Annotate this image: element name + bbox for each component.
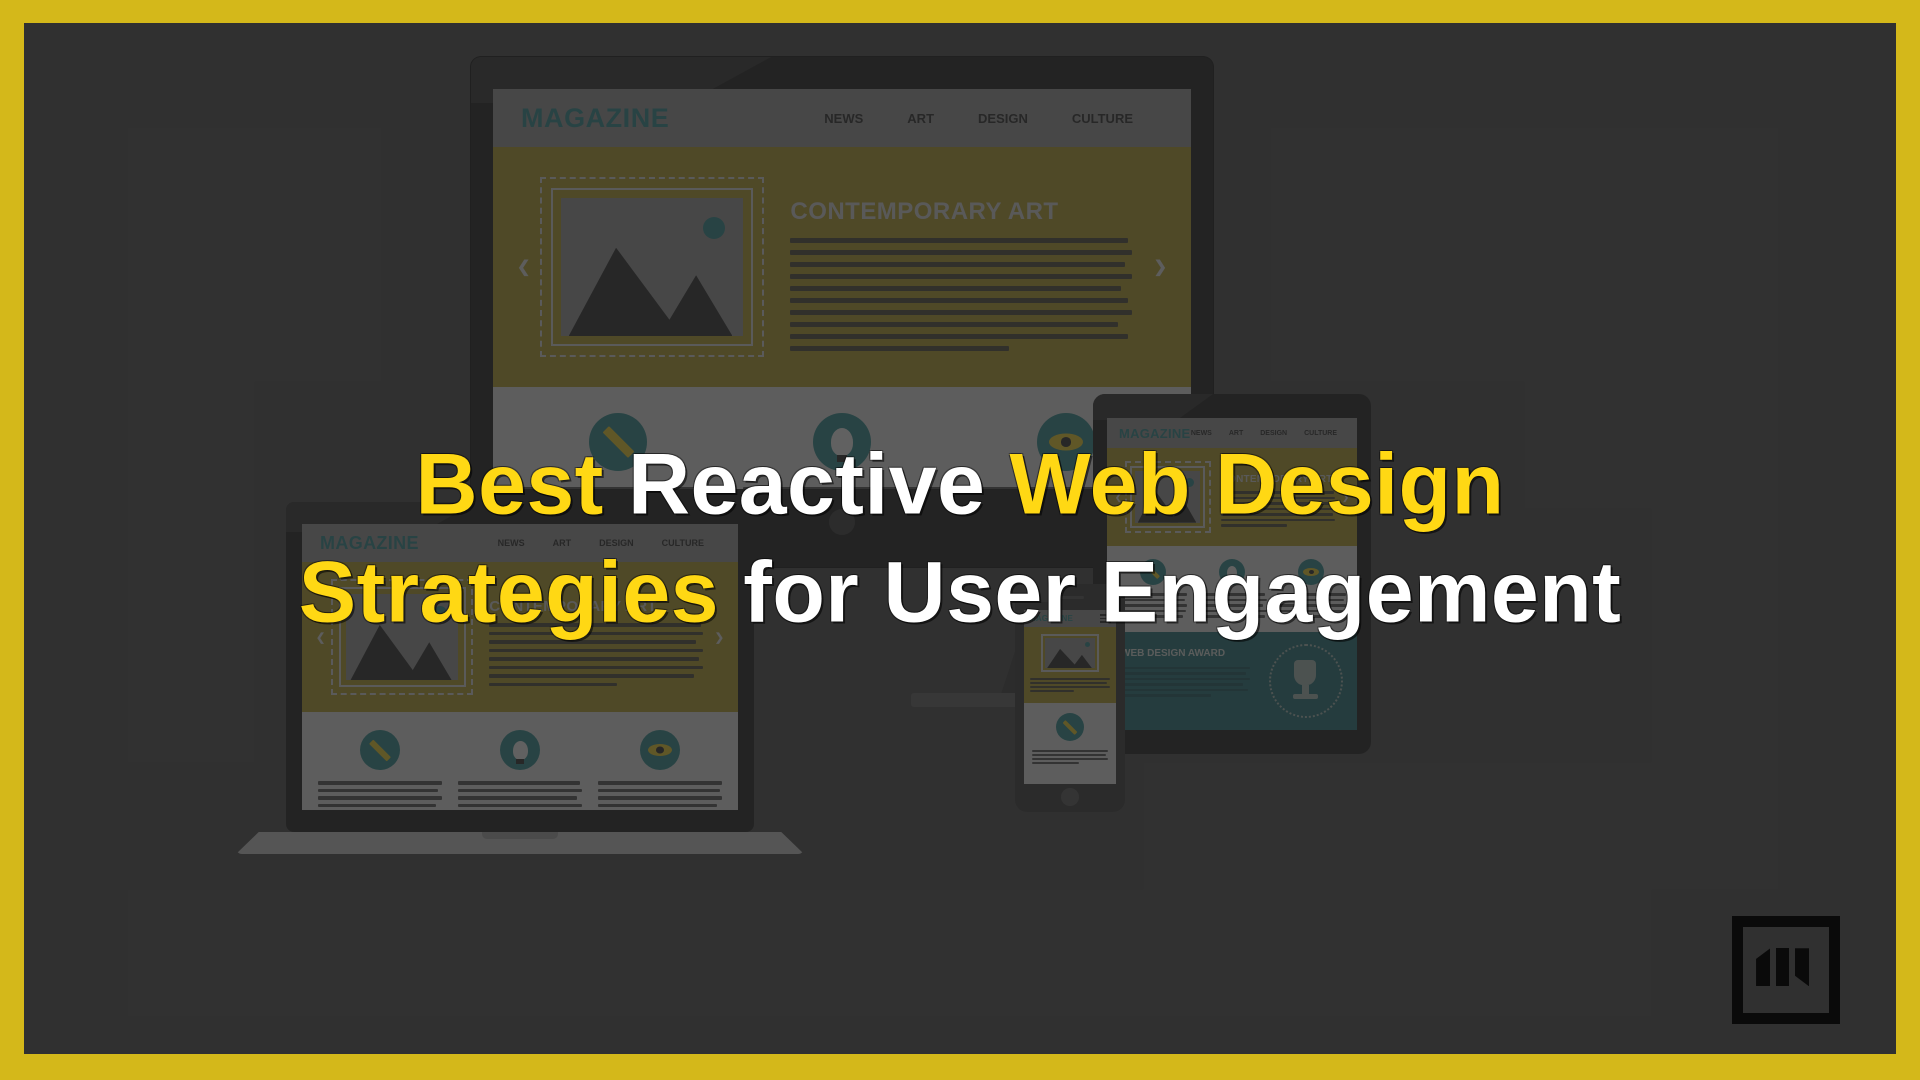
title-word-web-design: Web Design	[1010, 436, 1505, 532]
title-word-reactive: Reactive	[628, 436, 1010, 532]
title-line-2: Strategies for User Engagement	[84, 539, 1836, 647]
logo-bar-2	[1776, 948, 1790, 986]
tl-logo[interactable]	[1732, 916, 1840, 1024]
title-line-1: Best Reactive Web Design	[84, 430, 1836, 538]
title-word-strategies: Strategies	[299, 545, 743, 641]
title-word-for-user-engagement: for User Engagement	[743, 545, 1621, 641]
logo-inner-frame	[1752, 936, 1820, 1004]
page-title: Best Reactive Web Design Strategies for …	[24, 430, 1896, 647]
logo-bar-3	[1795, 948, 1809, 986]
logo-bar-1	[1756, 948, 1770, 986]
banner-frame: MAGAZINE NEWS ART DESIGN CULTURE ❮	[0, 0, 1920, 1080]
banner-stage: MAGAZINE NEWS ART DESIGN CULTURE ❮	[24, 23, 1896, 1054]
title-word-best: Best	[416, 436, 628, 532]
